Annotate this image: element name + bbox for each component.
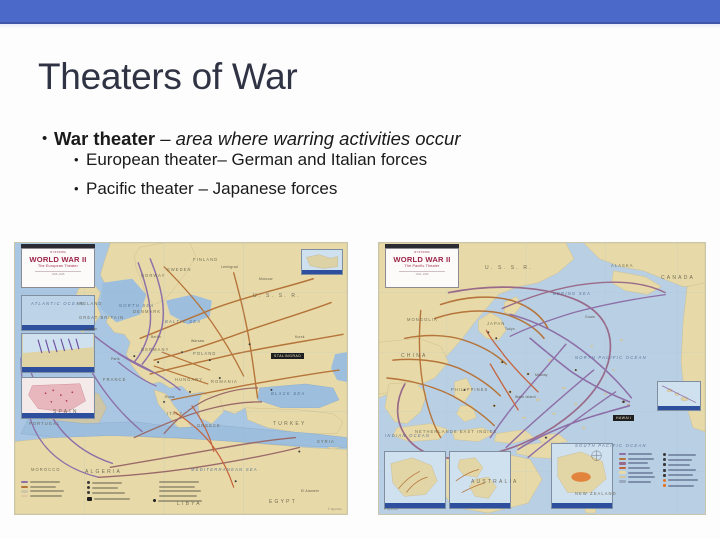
map-country-label: U. S. S. R. bbox=[485, 265, 533, 271]
map-country-label: PORTUGAL bbox=[29, 421, 60, 426]
legend-entry bbox=[153, 481, 213, 483]
legend-entry bbox=[619, 476, 657, 478]
legend-label bbox=[159, 490, 201, 492]
map-sea-label: SOUTH PACIFIC OCEAN bbox=[575, 443, 647, 448]
map-country-label: DENMARK bbox=[133, 309, 161, 314]
legend-swatch bbox=[87, 481, 90, 484]
legend-swatch bbox=[619, 458, 626, 460]
legend-label bbox=[668, 474, 693, 476]
legend-swatch bbox=[21, 490, 28, 492]
inset-title-bar bbox=[302, 270, 342, 274]
map-country-label: CANADA bbox=[661, 275, 695, 281]
map-country-label: AUSTRALIA bbox=[471, 479, 519, 485]
legend-label bbox=[30, 481, 60, 483]
map-city-label: Midway bbox=[535, 373, 548, 377]
map-figures: NYSTROM WORLD WAR II The European Theate… bbox=[0, 242, 720, 517]
bullet-level2-text: European theater– German and Italian for… bbox=[86, 150, 427, 169]
legend-label bbox=[30, 486, 56, 488]
map-inset-normandy bbox=[21, 333, 95, 373]
legend-entry bbox=[619, 467, 657, 469]
legend-swatch bbox=[619, 480, 626, 482]
legend-entry bbox=[87, 486, 143, 489]
legend-swatch bbox=[21, 495, 28, 497]
legend-swatch bbox=[87, 486, 90, 489]
legend-entry bbox=[153, 495, 213, 497]
legend-label bbox=[92, 487, 118, 489]
map-callout-stalingrad: STALINGRAD bbox=[271, 353, 304, 359]
legend-entry bbox=[663, 453, 703, 456]
map-city-label: Tokyo bbox=[505, 327, 515, 331]
map-country-label: HUNGARY bbox=[175, 377, 203, 382]
legend-swatch bbox=[619, 462, 626, 464]
legend-swatch bbox=[21, 481, 28, 483]
legend-entry bbox=[21, 490, 77, 492]
map-country-label: MONGOLIA bbox=[407, 317, 438, 322]
legend-swatch bbox=[663, 479, 666, 482]
map-inset-guadalcanal bbox=[551, 443, 613, 509]
cartouche-footer: 1941–1945 bbox=[388, 274, 456, 277]
map-country-label: ALASKA bbox=[611, 263, 634, 268]
bullet-definition: area where warring activities occur bbox=[176, 128, 461, 149]
legend-label bbox=[159, 481, 199, 483]
map-country-label: GERMANY bbox=[141, 347, 169, 352]
legend-label bbox=[30, 490, 64, 492]
bullet-level2-text: Pacific theater – Japanese forces bbox=[86, 179, 337, 198]
map-country-label: GREAT BRITAIN bbox=[79, 315, 124, 320]
map-inset-locator bbox=[301, 249, 343, 275]
map-city-label: London bbox=[85, 327, 98, 331]
legend-label bbox=[628, 467, 650, 469]
map-country-label: ITALY bbox=[167, 411, 183, 416]
map-country-label: NEW ZEALAND bbox=[575, 491, 617, 496]
map-country-label: SWEDEN bbox=[167, 267, 192, 272]
map-country-label: U. S. S. R. bbox=[253, 293, 301, 299]
map-country-label: CHINA bbox=[401, 353, 428, 359]
map-legend bbox=[619, 453, 703, 489]
bullet-list: •War theater – area where warring activi… bbox=[40, 128, 680, 199]
legend-entry bbox=[619, 458, 657, 460]
legend-label bbox=[94, 498, 130, 500]
legend-entry bbox=[663, 484, 703, 487]
inset-guadalcanal-graphic bbox=[552, 444, 612, 508]
map-inset-iwo-jima bbox=[384, 451, 446, 509]
legend-label bbox=[668, 485, 694, 487]
legend-entry bbox=[619, 453, 657, 455]
legend-swatch bbox=[619, 471, 626, 473]
legend-label bbox=[92, 482, 122, 484]
legend-entry bbox=[21, 486, 77, 488]
legend-swatch bbox=[153, 495, 157, 497]
map-sea-label: BLACK SEA bbox=[271, 391, 305, 396]
map-city-label: Moscow bbox=[259, 277, 273, 281]
legend-entry bbox=[153, 499, 213, 502]
legend-label bbox=[628, 458, 654, 460]
cartouche-footer: 1939–1945 bbox=[24, 274, 92, 277]
map-country-label: FINLAND bbox=[193, 257, 218, 262]
legend-label bbox=[668, 479, 698, 481]
cartouche-subtitle: The European Theater bbox=[24, 265, 92, 269]
map-country-label: NETHERLANDS EAST INDIES bbox=[415, 429, 497, 434]
map-sea-label: BERING SEA bbox=[553, 291, 591, 296]
legend-swatch bbox=[87, 497, 92, 501]
legend-entry bbox=[21, 495, 77, 497]
legend-entry bbox=[153, 490, 213, 492]
map-country-label: FRANCE bbox=[103, 377, 126, 382]
map-city-label: Kursk bbox=[295, 335, 305, 339]
bullet-level2-european: •European theater– German and Italian fo… bbox=[72, 150, 680, 170]
legend-swatch bbox=[663, 453, 666, 456]
map-country-label: EGYPT bbox=[269, 499, 297, 505]
legend-label bbox=[668, 454, 696, 456]
legend-entry bbox=[663, 463, 703, 466]
inset-title-bar bbox=[658, 406, 700, 410]
map-city-label: Leningrad bbox=[221, 265, 238, 269]
map-country-label: SPAIN bbox=[53, 409, 79, 415]
legend-entry bbox=[619, 471, 657, 473]
map-sea-label: BALTIC SEA bbox=[165, 319, 201, 324]
map-sea-label: NORTH SEA bbox=[119, 303, 155, 308]
map-credit: © Nystrom bbox=[384, 508, 398, 511]
map-country-label: NORWAY bbox=[141, 273, 166, 278]
map-country-label: PHILIPPINES bbox=[451, 387, 488, 392]
legend-swatch bbox=[619, 453, 626, 455]
legend-label bbox=[668, 469, 696, 471]
legend-entry bbox=[619, 480, 657, 482]
map-city-label: Wake Island bbox=[515, 395, 536, 399]
legend-label bbox=[159, 495, 197, 497]
inset-title-bar bbox=[450, 503, 510, 508]
legend-label bbox=[628, 462, 648, 464]
page-title: Theaters of War bbox=[38, 56, 297, 98]
bullet-level2-pacific: •Pacific theater – Japanese forces bbox=[72, 179, 680, 199]
legend-label bbox=[668, 459, 692, 461]
legend-entry bbox=[153, 486, 213, 488]
map-city-label: Paris bbox=[111, 357, 120, 361]
bullet-separator: – bbox=[155, 128, 176, 149]
map-legend bbox=[21, 481, 213, 505]
legend-swatch bbox=[153, 481, 157, 483]
legend-entry bbox=[663, 469, 703, 472]
map-city-label: Guam bbox=[585, 315, 595, 319]
european-theater-map-figure[interactable]: NYSTROM WORLD WAR II The European Theate… bbox=[14, 242, 348, 515]
legend-entry bbox=[619, 462, 657, 464]
legend-swatch bbox=[21, 486, 28, 488]
cartouche-title: WORLD WAR II bbox=[388, 256, 456, 264]
legend-swatch bbox=[87, 491, 90, 494]
legend-swatch bbox=[619, 467, 626, 469]
slide-accent-band bbox=[0, 0, 720, 22]
legend-entry bbox=[87, 481, 143, 484]
cartouche-title: WORLD WAR II bbox=[24, 256, 92, 264]
bullet-marker-icon: • bbox=[74, 179, 79, 199]
map-title-cartouche: NYSTROM WORLD WAR II The European Theate… bbox=[21, 248, 95, 288]
bullet-marker-icon: • bbox=[74, 150, 79, 170]
map-country-label: IRELAND bbox=[77, 301, 102, 306]
map-country-label: POLAND bbox=[193, 351, 216, 356]
inset-title-bar bbox=[22, 325, 94, 330]
slide-accent-fade bbox=[0, 24, 720, 29]
legend-entry bbox=[663, 479, 703, 482]
map-country-label: MOROCCO bbox=[31, 467, 61, 472]
inset-title-bar bbox=[22, 367, 94, 372]
legend-label bbox=[92, 492, 125, 494]
legend-swatch bbox=[663, 463, 666, 466]
bullet-term: War theater bbox=[54, 128, 155, 149]
legend-swatch bbox=[663, 469, 666, 472]
bullet-marker-icon: • bbox=[42, 128, 47, 150]
presentation-slide: Theaters of War •War theater – area wher… bbox=[0, 0, 720, 539]
map-inset-hawaii bbox=[657, 381, 701, 411]
map-city-label: El Alamein bbox=[301, 489, 319, 493]
legend-label bbox=[668, 464, 690, 466]
map-country-label: SYRIA bbox=[317, 439, 335, 444]
legend-label bbox=[628, 481, 651, 483]
legend-swatch bbox=[663, 484, 666, 487]
map-country-label: ROMANIA bbox=[211, 379, 238, 384]
map-country-label: ALGERIA bbox=[85, 469, 122, 475]
bullet-level1: •War theater – area where warring activi… bbox=[40, 128, 680, 150]
legend-swatch bbox=[663, 458, 666, 461]
legend-label bbox=[159, 486, 195, 488]
legend-swatch bbox=[619, 476, 626, 478]
map-country-label: TURKEY bbox=[273, 421, 306, 427]
cartouche-subtitle: The Pacific Theater bbox=[388, 265, 456, 269]
pacific-theater-map-figure[interactable]: NYSTROM WORLD WAR II The Pacific Theater… bbox=[378, 242, 706, 515]
legend-label bbox=[158, 500, 202, 502]
inset-iwojima-graphic bbox=[385, 452, 445, 508]
map-callout-hawaii: HAWAII bbox=[613, 415, 634, 421]
map-city-label: Warsaw bbox=[191, 339, 204, 343]
map-country-label: GREECE bbox=[197, 423, 221, 428]
inset-title-bar bbox=[552, 503, 612, 508]
legend-label bbox=[628, 453, 652, 455]
map-city-label: Rome bbox=[165, 395, 175, 399]
map-sea-label: NORTH PACIFIC OCEAN bbox=[575, 355, 647, 360]
legend-entry bbox=[21, 481, 77, 483]
map-title-cartouche: NYSTROM WORLD WAR II The Pacific Theater… bbox=[385, 248, 459, 288]
legend-swatch bbox=[153, 486, 157, 488]
legend-label bbox=[628, 476, 655, 478]
legend-entry bbox=[663, 474, 703, 477]
legend-entry bbox=[87, 497, 143, 501]
legend-label bbox=[628, 472, 653, 474]
legend-swatch bbox=[663, 474, 666, 477]
legend-swatch bbox=[153, 490, 157, 492]
map-sea-label: MEDITERRANEAN SEA bbox=[191, 467, 258, 472]
map-country-label: JAPAN bbox=[487, 321, 505, 326]
map-city-label: Berlin bbox=[151, 335, 161, 339]
legend-label bbox=[30, 495, 62, 497]
map-credit: © Nystrom bbox=[328, 508, 342, 511]
legend-entry bbox=[87, 491, 143, 494]
legend-entry bbox=[663, 458, 703, 461]
legend-swatch bbox=[153, 499, 156, 502]
